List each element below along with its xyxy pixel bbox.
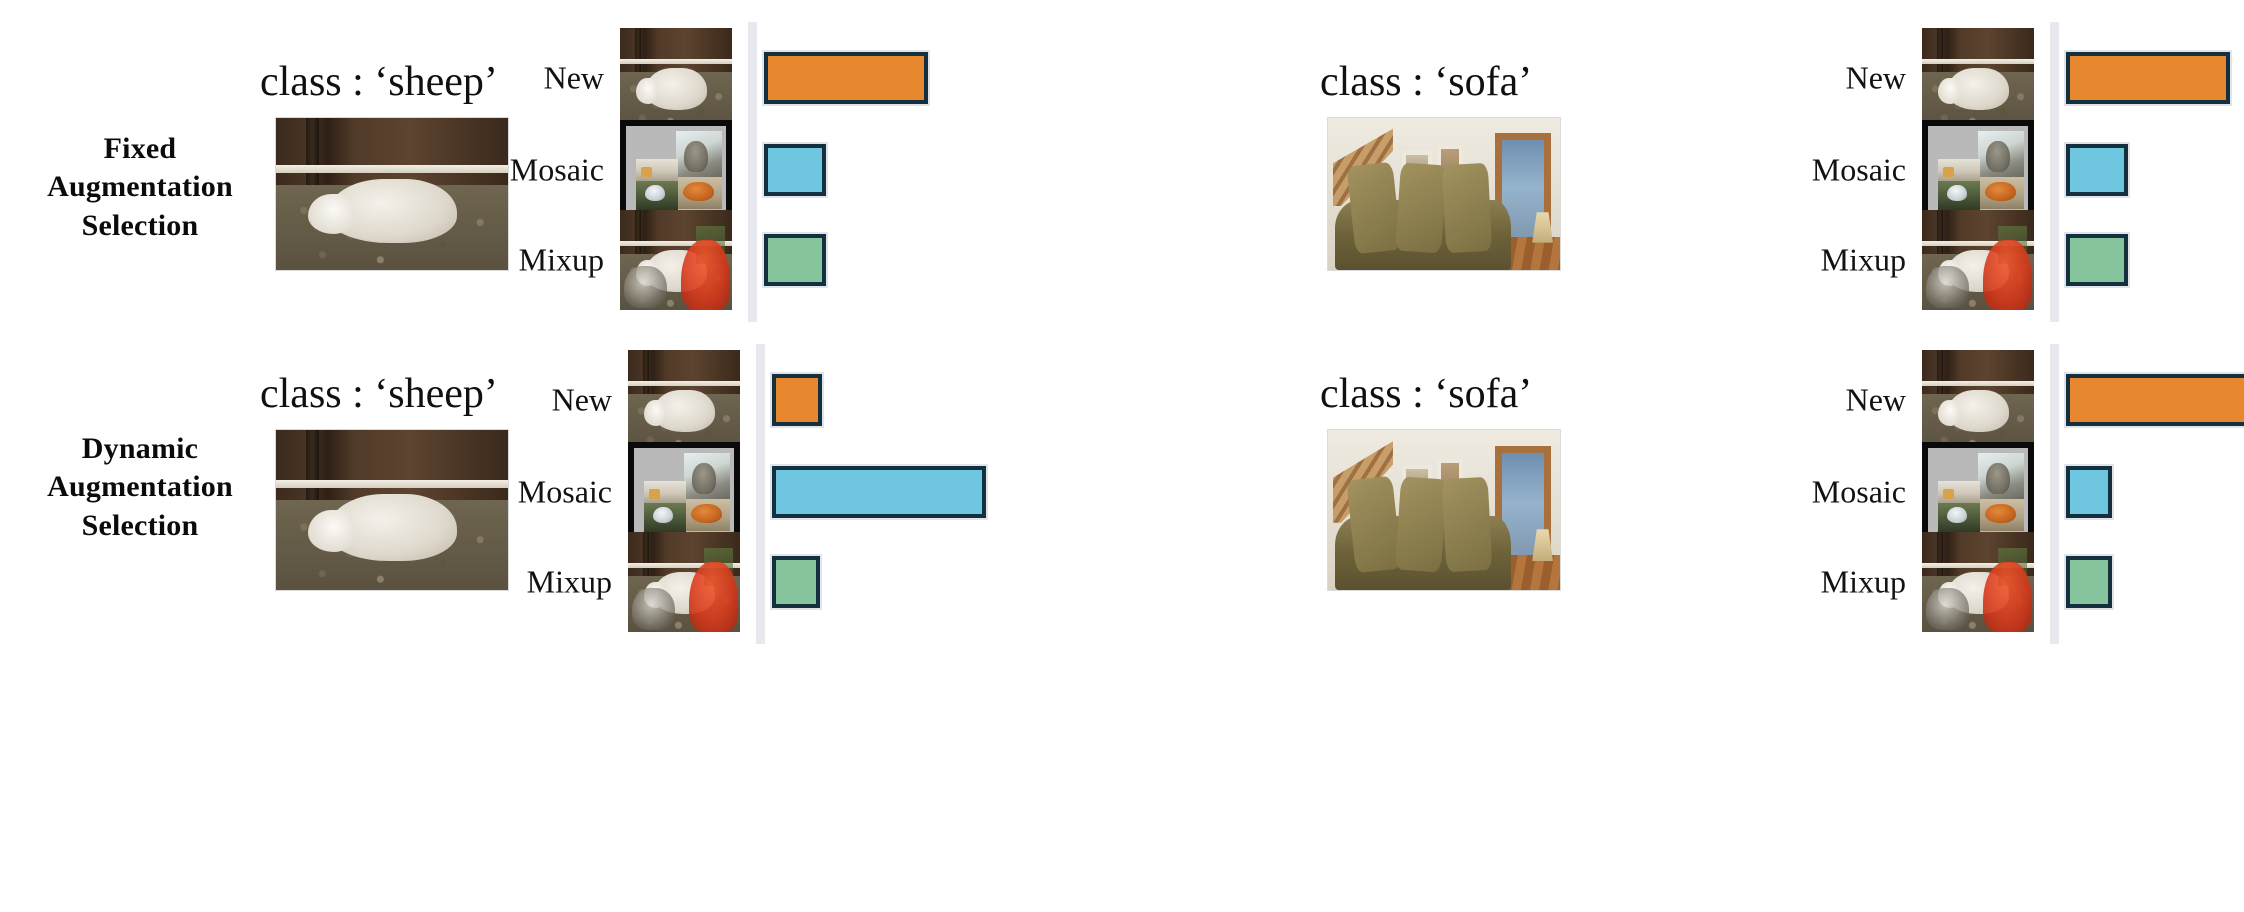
method-label-line-1: Dynamic <box>10 430 270 468</box>
aug-row-new-sofa-dynamic: New <box>1922 350 2222 450</box>
mosaic-grid-illustration <box>626 126 726 214</box>
sofa-photo-illustration <box>1328 430 1560 590</box>
mixup-red-object <box>1983 240 2032 310</box>
class-title-sheep-fixed: class : ‘sheep’ <box>260 58 498 106</box>
mosaic-tile-bird <box>1938 503 1980 533</box>
bar-mosaic <box>764 144 826 196</box>
method-label-line-1: Fixed <box>10 130 270 168</box>
mosaic-tile-cat <box>676 131 722 177</box>
mosaic-tile-dishes <box>636 159 678 180</box>
panel-fixed-sofa: class : ‘sofa’ New <box>900 20 2240 350</box>
aug-thumb-mixup[interactable] <box>628 532 740 632</box>
aug-label-mixup: Mixup <box>527 564 612 601</box>
bar-mixup <box>764 234 826 286</box>
cushion <box>1347 161 1402 254</box>
sheep-photo-illustration <box>276 118 508 270</box>
cushion <box>1394 477 1447 573</box>
mosaic-tile-dog <box>678 177 722 209</box>
sheep-head <box>308 510 354 552</box>
aug-row-mosaic-sofa-fixed: Mosaic <box>1922 120 2222 220</box>
barn-post <box>306 430 319 505</box>
bar-mixup <box>2066 556 2112 608</box>
aug-row-mixup-sofa-fixed: Mixup <box>1922 210 2222 310</box>
aug-label-new: New <box>1846 382 1906 419</box>
aug-thumb-mosaic[interactable] <box>628 442 740 542</box>
mosaic-tile-cat <box>1978 453 2024 499</box>
mixup-blend-illustration <box>1922 210 2034 310</box>
cushion <box>1442 477 1493 572</box>
source-image-sheep-dynamic <box>276 430 508 590</box>
mosaic-tile-bird <box>644 503 686 533</box>
aug-thumb-mosaic[interactable] <box>1922 120 2034 220</box>
mosaic-grid-illustration <box>1928 448 2028 536</box>
barn-rail <box>276 480 508 488</box>
barn-post <box>306 118 319 189</box>
cushion <box>1442 162 1493 252</box>
mosaic-tile-dishes <box>644 481 686 502</box>
row-fixed-augmentation: Fixed Augmentation Selection class : ‘sh… <box>0 20 2244 350</box>
sofa-photo-illustration <box>1328 118 1560 270</box>
bar-new <box>2066 52 2230 104</box>
bar-mixup <box>772 556 820 608</box>
sheep-photo-illustration <box>1922 28 2034 128</box>
sheep-photo-illustration <box>276 430 508 590</box>
aug-label-mosaic: Mosaic <box>1812 474 1906 511</box>
mixup-ghost-cat <box>1926 266 1969 308</box>
mixup-ghost-cat <box>632 588 675 630</box>
aug-label-mixup: Mixup <box>519 242 604 279</box>
class-title-sheep-dynamic: class : ‘sheep’ <box>260 370 498 418</box>
mixup-red-object <box>681 240 730 310</box>
panel-dynamic-sofa: class : ‘sofa’ New <box>900 330 2240 660</box>
source-image-sheep-fixed <box>276 118 508 270</box>
aug-thumb-mixup[interactable] <box>620 210 732 310</box>
aug-thumb-new[interactable] <box>1922 28 2034 128</box>
sheep-head <box>1938 78 1960 104</box>
cushion <box>1395 162 1447 253</box>
mixup-blend-illustration <box>1922 532 2034 632</box>
method-label-line-3: Selection <box>10 207 270 245</box>
aug-label-new: New <box>544 60 604 97</box>
method-label-line-3: Selection <box>10 507 270 545</box>
source-image-sofa-dynamic <box>1328 430 1560 590</box>
bar-mosaic <box>2066 466 2112 518</box>
mosaic-tile-dishes <box>1938 481 1980 502</box>
barn-rail <box>276 165 508 173</box>
bar-new <box>2066 374 2244 426</box>
mosaic-tile-bird <box>1938 181 1980 211</box>
method-label-fixed: Fixed Augmentation Selection <box>10 130 270 245</box>
class-title-sofa-dynamic: class : ‘sofa’ <box>1320 370 1532 418</box>
aug-label-mosaic: Mosaic <box>510 152 604 189</box>
aug-thumb-mixup[interactable] <box>1922 532 2034 632</box>
augmentation-selection-figure: Fixed Augmentation Selection class : ‘sh… <box>0 0 2244 912</box>
aug-label-new: New <box>552 382 612 419</box>
barn-rail <box>1922 59 2034 64</box>
mixup-ghost-cat <box>1926 588 1969 630</box>
mixup-blend-illustration <box>620 210 732 310</box>
mosaic-tile-dog <box>1980 499 2024 531</box>
barn-post <box>643 350 649 397</box>
mixup-blend-illustration <box>628 532 740 632</box>
sheep-head <box>308 194 354 234</box>
method-label-line-2: Augmentation <box>10 468 270 506</box>
sheep-photo-illustration <box>1922 350 2034 450</box>
aug-row-mosaic-sofa-dynamic: Mosaic <box>1922 442 2222 542</box>
mosaic-grid-illustration <box>634 448 734 536</box>
bar-mixup <box>2066 234 2128 286</box>
aug-thumb-new[interactable] <box>1922 350 2034 450</box>
aug-label-mosaic: Mosaic <box>518 474 612 511</box>
aug-thumb-mixup[interactable] <box>1922 210 2034 310</box>
mosaic-tile-dog <box>686 499 730 531</box>
mosaic-tile-cat <box>1978 131 2024 177</box>
aug-label-new: New <box>1846 60 1906 97</box>
bar-new <box>772 374 822 426</box>
mosaic-tile-bird <box>636 181 678 211</box>
mosaic-grid-illustration <box>1928 126 2028 214</box>
aug-label-mosaic: Mosaic <box>1812 152 1906 189</box>
row-dynamic-augmentation: Dynamic Augmentation Selection class : ‘… <box>0 330 2244 660</box>
source-image-sofa-fixed <box>1328 118 1560 270</box>
sheep-head <box>644 400 666 426</box>
mosaic-tile-dog <box>1980 177 2024 209</box>
mixup-red-object <box>689 562 738 632</box>
sheep-photo-illustration <box>628 350 740 450</box>
barn-post <box>1937 28 1943 75</box>
aug-thumb-mosaic[interactable] <box>620 120 732 220</box>
aug-thumb-mosaic[interactable] <box>1922 442 2034 542</box>
class-title-sofa-fixed: class : ‘sofa’ <box>1320 58 1532 106</box>
bar-mosaic <box>2066 144 2128 196</box>
barn-post <box>1937 350 1943 397</box>
aug-row-mixup-sofa-dynamic: Mixup <box>1922 532 2222 632</box>
mosaic-tile-cat <box>684 453 730 499</box>
barn-rail <box>620 59 732 64</box>
method-label-line-2: Augmentation <box>10 168 270 206</box>
aug-row-new-sofa-fixed: New <box>1922 28 2222 128</box>
aug-label-mixup: Mixup <box>1821 242 1906 279</box>
sheep-head <box>1938 400 1960 426</box>
sheep-photo-illustration <box>620 28 732 128</box>
method-label-dynamic: Dynamic Augmentation Selection <box>10 430 270 545</box>
mixup-ghost-cat <box>624 266 667 308</box>
barn-rail <box>628 381 740 386</box>
mosaic-tile-dishes <box>1938 159 1980 180</box>
aug-thumb-new[interactable] <box>620 28 732 128</box>
sheep-head <box>636 78 658 104</box>
mixup-red-object <box>1983 562 2032 632</box>
aug-thumb-new[interactable] <box>628 350 740 450</box>
barn-post <box>635 28 641 75</box>
aug-label-mixup: Mixup <box>1821 564 1906 601</box>
barn-rail <box>1922 381 2034 386</box>
